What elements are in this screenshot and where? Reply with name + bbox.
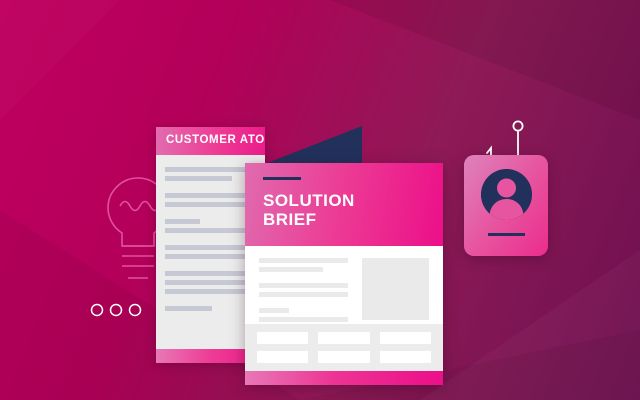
document-solution-brief[interactable]: SOLUTION BRIEF [245, 163, 443, 385]
card-item[interactable] [318, 332, 369, 344]
card-item[interactable] [380, 351, 431, 363]
card-item[interactable] [318, 351, 369, 363]
id-badge[interactable] [464, 155, 548, 256]
card-item[interactable] [257, 351, 308, 363]
solution-brief-card-grid [245, 324, 443, 371]
badge-name-rule [488, 233, 525, 236]
solution-brief-title: SOLUTION BRIEF [263, 191, 355, 229]
person-avatar-icon [481, 169, 532, 220]
image-placeholder [362, 258, 429, 320]
card-item[interactable] [257, 332, 308, 344]
illustration-canvas: CUSTOMER ATO SOLUTION BR [0, 0, 640, 400]
header-rule [263, 177, 301, 180]
solution-brief-header: SOLUTION BRIEF [245, 163, 443, 246]
solution-brief-title-line-1: SOLUTION [263, 191, 355, 210]
solution-brief-body [245, 246, 443, 324]
three-circles-icon [88, 298, 148, 322]
card-item[interactable] [380, 332, 431, 344]
solution-brief-title-line-2: BRIEF [263, 210, 355, 229]
solution-brief-footer-bar [245, 371, 443, 385]
